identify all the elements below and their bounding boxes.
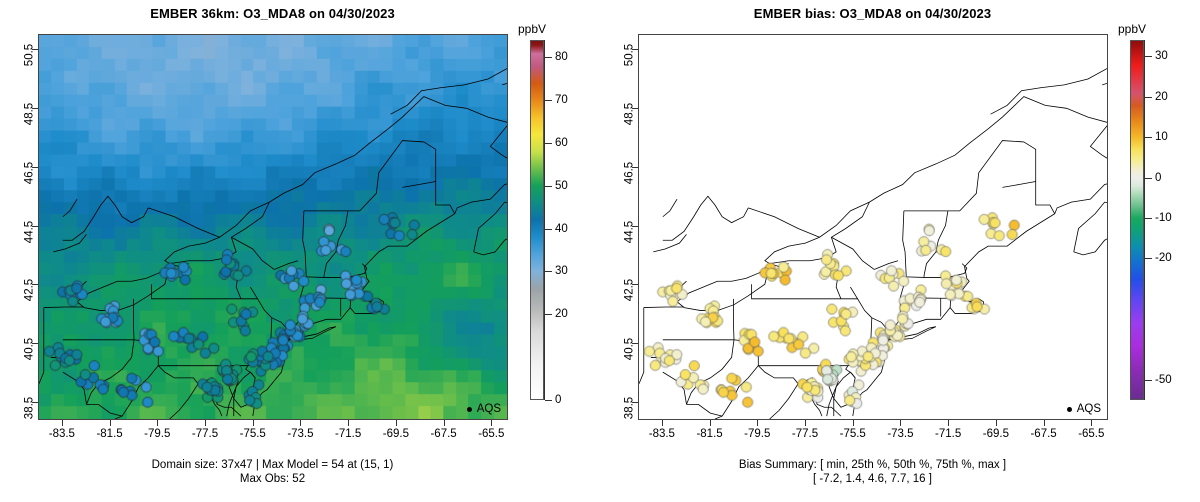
colorbar-unit-label: ppbV bbox=[1118, 22, 1146, 36]
colorbar-tick bbox=[545, 229, 552, 230]
colorbar-tick bbox=[1145, 258, 1152, 259]
panel-bias: EMBER bias: O3_MDA8 on 04/30/2023 AQS -8… bbox=[600, 0, 1200, 502]
x-tick bbox=[157, 420, 158, 426]
colorbar-unit-label: ppbV bbox=[518, 22, 546, 36]
aqs-legend-label: AQS bbox=[1077, 403, 1101, 415]
x-tick bbox=[805, 420, 806, 426]
colorbar-tick bbox=[545, 271, 552, 272]
x-tick bbox=[900, 420, 901, 426]
x-tick-label: -81.5 bbox=[96, 428, 122, 440]
colorbar-tick-label: 20 bbox=[555, 308, 568, 320]
x-tick-label: -75.5 bbox=[240, 428, 266, 440]
colorbar-tick-label: 70 bbox=[555, 94, 568, 106]
x-tick-label: -79.5 bbox=[144, 428, 170, 440]
x-tick-label: -69.5 bbox=[383, 428, 409, 440]
x-tick bbox=[1044, 420, 1045, 426]
colorbar-axis-line bbox=[544, 40, 545, 400]
y-tick-label: 44.5 bbox=[623, 220, 635, 242]
x-tick-label: -75.5 bbox=[840, 428, 866, 440]
colorbar-tick bbox=[545, 186, 552, 187]
x-tick-label: -73.5 bbox=[287, 428, 313, 440]
x-tick bbox=[491, 420, 492, 426]
y-axis-bias: 38.540.542.544.546.548.550.5 bbox=[600, 34, 638, 420]
x-tick bbox=[444, 420, 445, 426]
x-tick bbox=[710, 420, 711, 426]
x-tick bbox=[662, 420, 663, 426]
colorbar-tick bbox=[545, 400, 552, 401]
y-tick-label: 46.5 bbox=[623, 161, 635, 183]
colorbar-tick bbox=[545, 314, 552, 315]
x-tick bbox=[110, 420, 111, 426]
y-axis-model: 38.540.542.544.546.548.550.5 bbox=[0, 34, 38, 420]
colorbar-gradient bbox=[1130, 40, 1144, 400]
colorbar-tick bbox=[1145, 56, 1152, 57]
x-tick-label: -73.5 bbox=[887, 428, 913, 440]
colorbar-tick-label: 30 bbox=[555, 265, 568, 277]
colorbar-tick bbox=[545, 143, 552, 144]
y-tick-label: 38.5 bbox=[23, 397, 35, 419]
x-tick bbox=[948, 420, 949, 426]
x-tick-label: -83.5 bbox=[649, 428, 675, 440]
x-tick-label: -67.5 bbox=[430, 428, 456, 440]
x-tick-label: -67.5 bbox=[1030, 428, 1056, 440]
colorbar-tick-label: 10 bbox=[1155, 131, 1168, 143]
aqs-legend-label: AQS bbox=[477, 403, 501, 415]
colorbar-tick-label: -50 bbox=[1155, 374, 1172, 386]
colorbar-tick-label: 0 bbox=[555, 394, 561, 406]
map-plot-bias[interactable]: AQS bbox=[638, 34, 1108, 420]
x-tick bbox=[396, 420, 397, 426]
map-plot-model[interactable]: AQS bbox=[38, 34, 508, 420]
x-tick-label: -79.5 bbox=[744, 428, 770, 440]
y-tick-label: 50.5 bbox=[23, 44, 35, 66]
x-tick-label: -81.5 bbox=[696, 428, 722, 440]
aqs-legend-model: AQS bbox=[467, 403, 501, 415]
panel-title-bias: EMBER bias: O3_MDA8 on 04/30/2023 bbox=[600, 6, 1145, 21]
aqs-dot-icon bbox=[1067, 407, 1072, 412]
aqs-bias-markers[interactable] bbox=[639, 35, 1107, 419]
x-axis-bias: -83.5-81.5-79.5-77.5-75.5-73.5-71.5-69.5… bbox=[638, 420, 1108, 450]
panel-model: EMBER 36km: O3_MDA8 on 04/30/2023 AQS -8… bbox=[0, 0, 600, 502]
colorbar-tick bbox=[1145, 380, 1152, 381]
x-tick-label: -65.5 bbox=[1078, 428, 1104, 440]
colorbar-tick-label: 80 bbox=[555, 51, 568, 63]
caption-bias-line1: Bias Summary: [ min, 25th %, 50th %, 75t… bbox=[600, 458, 1145, 472]
x-tick bbox=[348, 420, 349, 426]
x-tick-label: -65.5 bbox=[478, 428, 504, 440]
colorbar-tick-label: 40 bbox=[555, 223, 568, 235]
panel-title-model: EMBER 36km: O3_MDA8 on 04/30/2023 bbox=[0, 6, 545, 21]
colorbar-tick-label: 0 bbox=[1155, 172, 1161, 184]
x-tick bbox=[253, 420, 254, 426]
x-tick-label: -71.5 bbox=[935, 428, 961, 440]
colorbar-tick-label: 20 bbox=[1155, 91, 1168, 103]
y-tick-label: 50.5 bbox=[623, 44, 635, 66]
y-tick-label: 42.5 bbox=[23, 279, 35, 301]
caption-model-line2: Max Obs: 52 bbox=[0, 472, 545, 486]
y-tick-label: 42.5 bbox=[623, 279, 635, 301]
colorbar-tick bbox=[1145, 218, 1152, 219]
y-tick-label: 40.5 bbox=[623, 338, 635, 360]
aqs-legend-bias: AQS bbox=[1067, 403, 1101, 415]
x-tick bbox=[62, 420, 63, 426]
aqs-station-markers[interactable] bbox=[39, 35, 507, 419]
colorbar-tick bbox=[545, 100, 552, 101]
caption-model-line1: Domain size: 37x47 | Max Model = 54 at (… bbox=[0, 458, 545, 472]
caption-bias-line2: [ -7.2, 1.4, 4.6, 7.7, 16 ] bbox=[600, 472, 1145, 486]
x-tick bbox=[300, 420, 301, 426]
x-tick-label: -69.5 bbox=[983, 428, 1009, 440]
x-tick bbox=[757, 420, 758, 426]
x-tick bbox=[853, 420, 854, 426]
colorbar-tick-label: 50 bbox=[555, 180, 568, 192]
x-tick-label: -71.5 bbox=[335, 428, 361, 440]
colorbar-tick-label: 30 bbox=[1155, 50, 1168, 62]
y-tick-label: 48.5 bbox=[23, 102, 35, 124]
y-tick-label: 48.5 bbox=[623, 102, 635, 124]
x-tick-label: -77.5 bbox=[792, 428, 818, 440]
colorbar-tick-label: -20 bbox=[1155, 252, 1172, 264]
y-tick-label: 44.5 bbox=[23, 220, 35, 242]
y-tick-label: 40.5 bbox=[23, 338, 35, 360]
colorbar-tick bbox=[545, 57, 552, 58]
colorbar-gradient bbox=[530, 40, 544, 400]
x-tick bbox=[996, 420, 997, 426]
y-tick-label: 38.5 bbox=[623, 397, 635, 419]
colorbar-tick-label: -10 bbox=[1155, 212, 1172, 224]
y-tick-label: 46.5 bbox=[23, 161, 35, 183]
x-tick-label: -83.5 bbox=[49, 428, 75, 440]
x-tick bbox=[205, 420, 206, 426]
x-tick-label: -77.5 bbox=[192, 428, 218, 440]
x-tick bbox=[1091, 420, 1092, 426]
colorbar-tick-label: 60 bbox=[555, 137, 568, 149]
aqs-dot-icon bbox=[467, 407, 472, 412]
colorbar-axis-line bbox=[1144, 40, 1145, 400]
colorbar-tick bbox=[1145, 97, 1152, 98]
x-axis-model: -83.5-81.5-79.5-77.5-75.5-73.5-71.5-69.5… bbox=[38, 420, 508, 450]
colorbar-tick bbox=[1145, 178, 1152, 179]
colorbar-tick bbox=[1145, 137, 1152, 138]
